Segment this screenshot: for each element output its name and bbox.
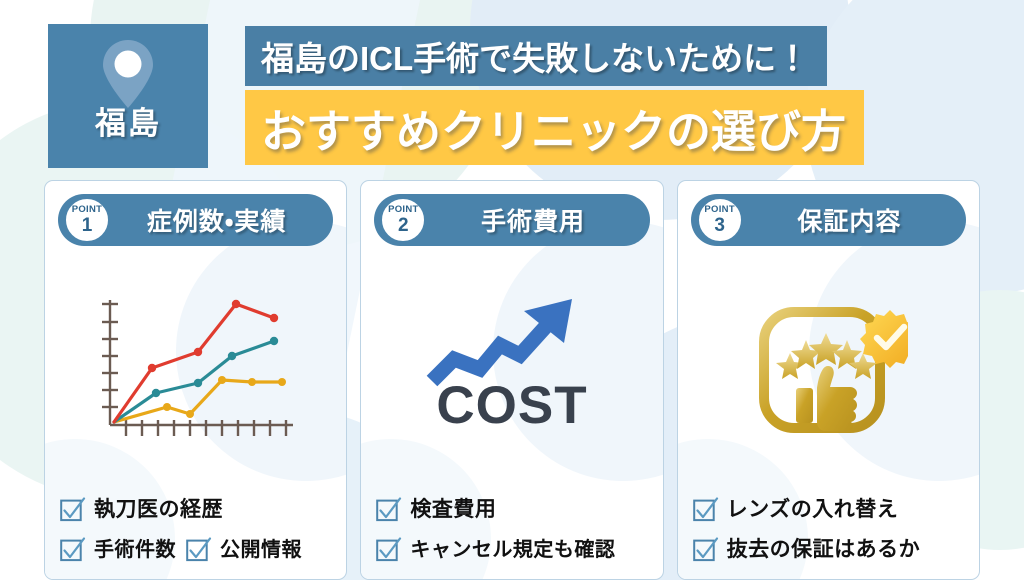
check-label: 公開情報: [220, 540, 302, 560]
checklist-2: 検査費用 キャンセル規定も確認: [361, 496, 662, 579]
point-header-1: POINT 1 症例数・実績: [58, 194, 333, 246]
headline-top-bar: 福島のICL手術で失敗しないために！: [245, 26, 827, 86]
checklist-3: レンズの入れ替え 抜去の保証はあるか: [678, 496, 979, 579]
check-row: 抜去の保証はあるか: [692, 536, 965, 563]
headline-top-text: 福島のICL手術で失敗しないために！: [261, 32, 809, 80]
check-label: 抜去の保証はあるか: [727, 539, 921, 560]
point-number: 2: [398, 216, 409, 235]
check-item[interactable]: 執刀医の経歴: [59, 496, 223, 523]
headline-bottom-bar: おすすめクリニックの選び方: [245, 90, 864, 165]
check-item[interactable]: 抜去の保証はあるか: [692, 536, 921, 563]
check-row: キャンセル規定も確認: [375, 536, 648, 563]
map-pin-icon: [99, 38, 157, 112]
point-word: POINT: [704, 205, 735, 215]
checklist-1: 執刀医の経歴 手術件数: [45, 496, 346, 579]
point-number: 1: [82, 216, 93, 235]
header: 福島 福島のICL手術で失敗しないために！ おすすめクリニックの選び方: [0, 0, 1024, 178]
point-header-3: POINT 3 保証内容: [691, 194, 966, 246]
point-card-3: POINT 3 保証内容: [677, 180, 980, 580]
line-chart-icon: [88, 294, 303, 449]
check-label: レンズの入れ替え: [727, 499, 899, 520]
check-row: 執刀医の経歴: [59, 496, 332, 523]
guarantee-badge-icon: [748, 296, 908, 446]
checkbox-checked-icon: [692, 496, 719, 523]
check-item[interactable]: 手術件数: [59, 536, 176, 563]
point-word: POINT: [388, 205, 419, 215]
checkbox-checked-icon: [692, 536, 719, 563]
points-card-list: POINT 1 症例数・実績: [0, 180, 1024, 580]
illustration-area-1: [45, 246, 346, 496]
cost-text: COST: [404, 379, 619, 432]
check-row: 検査費用: [375, 496, 648, 523]
check-label: 執刀医の経歴: [94, 499, 223, 520]
checkbox-checked-icon: [59, 496, 86, 523]
illustration-area-2: COST: [361, 246, 662, 496]
point-number-badge: POINT 1: [64, 197, 110, 243]
point-title: 症例数・実績: [110, 202, 333, 238]
checkbox-checked-icon: [185, 536, 212, 563]
point-card-2: POINT 2 手術費用 COST: [360, 180, 663, 580]
check-row: レンズの入れ替え: [692, 496, 965, 523]
point-title: 保証内容: [743, 202, 966, 238]
check-row: 手術件数 公開情報: [59, 536, 332, 563]
location-label: 福島: [95, 108, 161, 139]
checkbox-checked-icon: [59, 536, 86, 563]
headline-bottom-text: おすすめクリニックの選び方: [261, 95, 846, 160]
check-item[interactable]: レンズの入れ替え: [692, 496, 899, 523]
point-title: 手術費用: [426, 202, 649, 238]
point-word: POINT: [72, 205, 103, 215]
point-card-1: POINT 1 症例数・実績: [44, 180, 347, 580]
checkbox-checked-icon: [375, 536, 402, 563]
check-item[interactable]: 検査費用: [375, 496, 496, 523]
checkbox-checked-icon: [375, 496, 402, 523]
point-number-badge: POINT 3: [697, 197, 743, 243]
point-header-2: POINT 2 手術費用: [374, 194, 649, 246]
point-number: 3: [714, 216, 725, 235]
check-label: 検査費用: [410, 499, 496, 520]
point-number-badge: POINT 2: [380, 197, 426, 243]
check-label: 手術件数: [94, 540, 176, 560]
check-label: キャンセル規定も確認: [410, 540, 615, 560]
check-item[interactable]: 公開情報: [185, 536, 302, 563]
illustration-area-3: [678, 246, 979, 496]
location-badge: 福島: [48, 24, 208, 168]
check-item[interactable]: キャンセル規定も確認: [375, 536, 615, 563]
